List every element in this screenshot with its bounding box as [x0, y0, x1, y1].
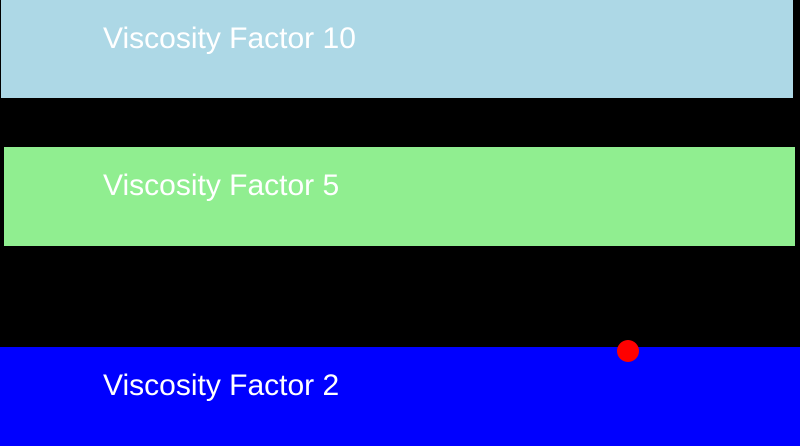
- viscosity-layer-2-label: Viscosity Factor 2: [103, 371, 339, 401]
- viscosity-layer-10-label: Viscosity Factor 10: [103, 24, 356, 54]
- viscosity-layer-5-label: Viscosity Factor 5: [103, 171, 339, 201]
- simulation-canvas: Viscosity Factor 10 Viscosity Factor 5 V…: [0, 0, 800, 446]
- particle-marker-icon[interactable]: [617, 340, 639, 362]
